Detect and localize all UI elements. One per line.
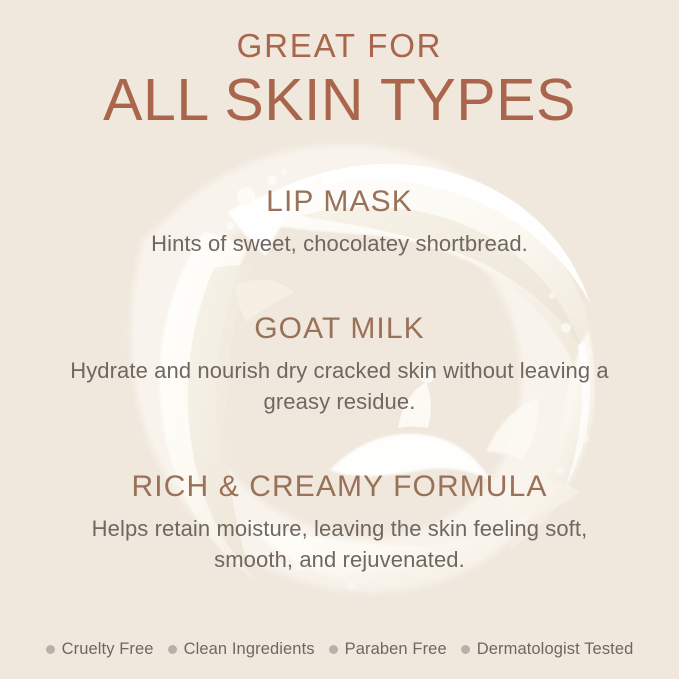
headline-block: GREAT FOR ALL SKIN TYPES [0, 26, 679, 132]
feature-section-lip-mask: LIP MASK Hints of sweet, chocolatey shor… [0, 184, 679, 259]
claims-strip: Cruelty Free Clean Ingredients Paraben F… [0, 639, 679, 659]
claim-label-clean-ingredients: Clean Ingredients [184, 639, 315, 659]
claim-label-paraben-free: Paraben Free [345, 639, 447, 659]
feature-section-goat-milk: GOAT MILK Hydrate and nourish dry cracke… [0, 311, 679, 417]
claim-label-cruelty-free: Cruelty Free [62, 639, 154, 659]
feature-section-rich-creamy-formula: RICH & CREAMY FORMULA Helps retain moist… [0, 469, 679, 575]
bullet-dot-icon [168, 645, 177, 654]
claim-cruelty-free: Cruelty Free [46, 639, 154, 659]
claim-dermatologist-tested: Dermatologist Tested [461, 639, 634, 659]
section-body-lip-mask: Hints of sweet, chocolatey shortbread. [0, 228, 679, 259]
section-heading-rich-creamy-formula: RICH & CREAMY FORMULA [0, 469, 679, 505]
section-body-goat-milk: Hydrate and nourish dry cracked skin wit… [0, 355, 679, 417]
product-feature-poster: GREAT FOR ALL SKIN TYPES LIP MASK Hints … [0, 0, 679, 679]
claim-label-dermatologist-tested: Dermatologist Tested [477, 639, 634, 659]
bullet-dot-icon [46, 645, 55, 654]
feature-sections: LIP MASK Hints of sweet, chocolatey shor… [0, 184, 679, 575]
poster-content: GREAT FOR ALL SKIN TYPES LIP MASK Hints … [0, 0, 679, 679]
section-heading-goat-milk: GOAT MILK [0, 311, 679, 347]
claim-clean-ingredients: Clean Ingredients [168, 639, 315, 659]
section-heading-lip-mask: LIP MASK [0, 184, 679, 220]
section-body-rich-creamy-formula: Helps retain moisture, leaving the skin … [0, 513, 679, 575]
claim-paraben-free: Paraben Free [329, 639, 447, 659]
bullet-dot-icon [329, 645, 338, 654]
headline-line-2: ALL SKIN TYPES [0, 68, 679, 132]
bullet-dot-icon [461, 645, 470, 654]
headline-line-1: GREAT FOR [0, 26, 679, 66]
